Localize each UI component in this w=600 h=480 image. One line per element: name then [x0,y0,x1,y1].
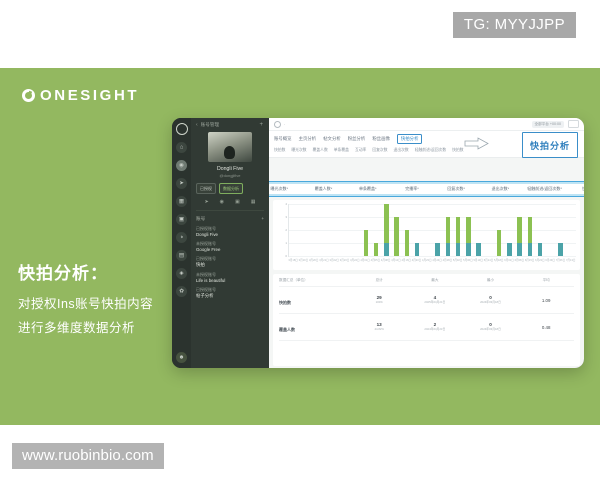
chart-bar-slot[interactable] [422,204,432,256]
list-item-name: Dongli Five [196,232,264,237]
list-item-name: Life is beautiful [196,278,264,283]
chart-bar[interactable] [517,217,522,256]
list-item-name: Google Free [196,247,264,252]
table-cell: 42025年04月24日 [407,295,463,304]
chart-bar[interactable] [558,243,563,256]
gridline [289,256,576,257]
dashboard-icon[interactable]: ◉ [176,160,187,171]
x-tick-label: 4月08日 [381,258,391,262]
x-tick-label: 3月24日 [350,258,360,262]
x-tick-label: 7月13日 [566,258,576,262]
y-tick-label: 4 [285,202,287,206]
chart-bar-slot[interactable] [484,204,494,256]
x-tick-label: 6月22日 [535,258,545,262]
x-tick-label: 6月08日 [514,258,524,262]
bar-segment-bottom [435,243,440,256]
x-tick-label: 3月20日 [309,258,319,262]
telegram-watermark: TG: MYYJJPP [453,12,576,38]
x-tick-label: 4月01日 [360,258,370,262]
metric-pills-highlight: 快拍数*曝光次数*覆盖人数*单条覆盖*完播率*回复次数*退出次数*轻触前进/返回… [269,181,584,197]
metric-pill[interactable]: 快拍数* [567,186,584,192]
x-tick-label: 3月18日 [288,258,298,262]
list-item-name: 快拍 [196,262,264,268]
subtab-item[interactable]: 覆盖人数 [313,148,328,153]
home-icon[interactable]: ⌂ [176,142,187,153]
list-item-name: 帖子分析 [196,293,264,299]
cell-subvalue: 2024年04月23日 [407,328,463,331]
bar-segment-top [456,217,461,243]
brand-name: ONESIGHT [40,87,139,104]
chart-bar[interactable] [476,243,481,256]
tab-active[interactable]: 快拍分析 [397,134,423,144]
y-axis-labels: 01234 [278,204,288,256]
list-item[interactable]: 已授权账号帖子分析 [196,287,264,299]
bar-segment-bottom [558,243,563,256]
y-tick-label: 3 [285,215,287,219]
x-tick-label: 3月23日 [339,258,349,262]
layers-icon[interactable]: ▦ [176,196,187,207]
chart-bars [289,204,576,256]
x-tick-label: 6月29日 [545,258,555,262]
y-tick-label: 2 [285,228,287,232]
bar-segment-bottom [466,243,471,256]
sidebar-section-header[interactable]: 账号 + [196,216,264,222]
dashboard-main: · 全部平台 +00:00 账号概览主页分析帖文分析粉丝分析粉丝画像快拍分析 快… [269,118,584,368]
metric-pill[interactable]: 回复次数* [434,186,478,192]
chart-bar-slot[interactable] [392,204,402,256]
monitor-icon-glyph: ▤ [179,253,184,259]
chart-bar[interactable] [446,217,451,256]
preview-box-icon[interactable] [568,120,579,128]
sidebar-back-label: 账号管理 [201,122,219,128]
table-row-label: 覆盖人数 [279,318,351,336]
dashboard-topbar: · 全部平台 +00:00 [269,118,584,131]
briefcase-icon[interactable]: ▣ [176,214,187,225]
chart-bar-slot[interactable] [535,204,545,256]
chart-icon-glyph: ◑ [180,235,183,241]
bar-segment-bottom [456,243,461,256]
monitor-icon[interactable]: ▤ [176,250,187,261]
circle-dot-icon[interactable] [274,121,281,128]
tab-item[interactable]: 账号概览 [274,136,292,142]
cell-subvalue: 100% [351,301,407,304]
table-cell: 22024年04月23日 [407,322,463,331]
chart-bar-slot[interactable] [412,204,422,256]
bar-segment-bottom [507,243,512,256]
avatar-icon-glyph: ☻ [179,355,185,361]
chart-bar-slot[interactable] [320,204,330,256]
slide-subtitle-line2: 进行多维度数据分析 [18,317,198,340]
cell-value: 1.09 [518,298,574,303]
bar-segment-top [374,243,379,256]
account-name: Dongli Five [196,166,264,172]
grid-icon[interactable]: ▦ [251,199,256,205]
chart-plot-area: 01234 [288,204,576,257]
table-row-label: 快拍数 [279,291,351,309]
chart-bar-slot[interactable] [361,204,371,256]
x-axis-labels: 3月18日3月19日3月20日3月21日3月22日3月23日3月24日4月01日… [288,258,576,262]
chart-bar[interactable] [497,230,502,256]
x-tick-label: 5月06日 [463,258,473,262]
chart-bar[interactable] [456,217,461,256]
callout-badge: 快拍分析 [522,132,578,158]
chart-bar-slot[interactable] [463,204,473,256]
briefcase-icon-glyph: ▣ [179,217,184,223]
bar-segment-top [497,230,502,256]
chart-bar[interactable] [435,243,440,256]
account-list: 已授权账号Dongli Five未授权账号Google Free已授权账号快拍未… [196,226,264,299]
tab-item[interactable]: 粉丝画像 [372,136,390,142]
x-tick-label: 4月28日 [442,258,452,262]
list-item[interactable]: 已授权账号快拍 [196,256,264,268]
metric-pill[interactable]: 曝光次数* [269,186,301,192]
onesight-circle-logo-icon [22,89,35,102]
chart-bar-slot[interactable] [545,204,555,256]
cell-subvalue: 2025年04月24日 [407,301,463,304]
paper-plane-icon-glyph: ➤ [179,181,184,187]
icon-rail[interactable]: ⌂◉➤▦▣◑▤◈✿☻ [172,118,191,368]
chart-bar-slot[interactable] [433,204,443,256]
table-cell: 29100% [351,295,407,304]
dashboard-icon-glyph: ◉ [179,163,184,169]
subtab-item[interactable]: 回复次数 [372,148,387,153]
chart-icon[interactable]: ◑ [176,232,187,243]
table-header-cell: 总计 [351,278,407,283]
chart-bar-slot[interactable] [494,204,504,256]
share-icon[interactable]: ➤ [204,199,208,205]
table-cell: 1.09 [518,298,574,303]
chart-bar[interactable] [466,217,471,256]
bar-segment-bottom [384,243,389,256]
table-cell: 1344.82% [351,322,407,331]
chart-bar-slot[interactable] [371,204,381,256]
chart-bar-slot[interactable] [556,204,566,256]
subtab-item[interactable]: 快拍数 [274,148,285,153]
chart-bar-slot[interactable] [443,204,453,256]
tab-item[interactable]: 主页分析 [299,136,317,142]
table-header-cell: 最小 [463,278,519,283]
chart-bar-slot[interactable] [402,204,412,256]
chart-bar-slot[interactable] [566,204,576,256]
x-tick-label: 5月10日 [473,258,483,262]
chart-bar-slot[interactable] [340,204,350,256]
page-title: 快拍分析： [18,264,198,284]
megaphone-icon[interactable]: ◈ [176,268,187,279]
chart-bar-slot[interactable] [351,204,361,256]
layers-icon-glyph: ▦ [179,199,184,205]
chart-bar[interactable] [384,204,389,256]
y-tick-label: 0 [285,254,287,258]
chart-bar-slot[interactable] [453,204,463,256]
cell-value: 0.48 [518,325,574,330]
chevron-left-icon: ‹ [196,122,198,128]
x-tick-label: 5月14日 [483,258,493,262]
list-item[interactable]: 未授权账号Google Free [196,241,264,252]
slide-canvas: TG: MYYJJPP ONESIGHT 快拍分析： 对授权Ins账号快拍内容 … [0,0,600,480]
x-tick-label: 4月24日 [432,258,442,262]
row-label-text: 覆盖人数 [279,327,295,332]
y-tick-label: 1 [285,241,287,245]
account-cover-photo [208,132,252,162]
chart-bar-slot[interactable] [474,204,484,256]
breadcrumb: · [284,122,285,127]
gear-icon[interactable]: ✿ [176,286,187,297]
chart-bar[interactable] [528,217,533,256]
table-row: 覆盖人数1344.82%22024年04月23日02024年03月18日0.48 [279,314,574,341]
metric-pill[interactable]: 轻触前进/返回次数* [523,186,567,192]
sidebar-add-icon[interactable]: + [259,122,263,128]
x-tick-label: 4月23日 [422,258,432,262]
x-tick-label: 3月19日 [298,258,308,262]
chart-bar-slot[interactable] [381,204,391,256]
bar-segment-top [384,204,389,243]
table-header-row: 数据汇总（单位）总计最大最小平均 [279,278,574,287]
x-tick-label: 6月15日 [524,258,534,262]
table-body: 快拍数29100%42025年04月24日02024年03月18日1.09覆盖人… [279,287,574,341]
bar-segment-bottom [476,243,481,256]
subtab-item[interactable]: 退出次数 [394,148,409,153]
subtab-item[interactable]: 轻触前进/返回次数 [415,148,446,153]
table-header-cell: 平均 [518,278,574,283]
account-action-buttons: 已授权 数据分析 [196,183,264,194]
x-tick-label: 6月01日 [504,258,514,262]
bar-segment-top [528,217,533,243]
table-row: 快拍数29100%42025年04月24日02024年03月18日1.09 [279,287,574,314]
bar-segment-top [394,217,399,256]
right-arrow-icon [464,137,490,150]
chart-bar-slot[interactable] [515,204,525,256]
chart-bar[interactable] [394,217,399,256]
cell-subvalue: 2024年03月18日 [463,328,519,331]
table-cell: 0.48 [518,325,574,330]
tab-item[interactable]: 粉丝分析 [348,136,366,142]
chart-bar-slot[interactable] [504,204,514,256]
chart-bar[interactable] [364,230,369,256]
metric-pill[interactable]: 退出次数* [478,186,522,192]
globe-icon[interactable]: ◉ [220,199,224,205]
chart-bar-slot[interactable] [310,204,320,256]
row-label-text: 快拍数 [279,300,291,305]
tab-item[interactable]: 帖文分析 [323,136,341,142]
image-icon[interactable]: ▣ [235,199,240,205]
list-item[interactable]: 未授权账号Life is beautiful [196,272,264,283]
home-icon-glyph: ⌂ [180,145,183,151]
snapshot-bar-chart: 01234 3月18日3月19日3月20日3月21日3月22日3月23日3月24… [273,200,580,270]
x-tick-label: 5月02日 [453,258,463,262]
table-header-cell: 数据汇总（单位） [279,278,351,283]
quick-icon-row: ➤ ◉ ▣ ▦ [196,199,264,205]
plus-icon[interactable]: + [261,216,264,221]
metric-pill[interactable]: 单条覆盖* [346,186,390,192]
table-header-cell: 最大 [407,278,463,283]
chart-bar[interactable] [415,243,420,256]
chart-bar[interactable] [405,230,410,256]
x-tick-label: 4月05日 [370,258,380,262]
chart-bar-slot[interactable] [299,204,309,256]
analyze-button[interactable]: 数据分析 [219,183,243,194]
megaphone-icon-glyph: ◈ [179,271,183,277]
gear-icon-glyph: ✿ [179,289,184,295]
slide-subtitle-line1: 对授权Ins账号快拍内容 [18,293,198,316]
authorized-badge[interactable]: 已授权 [196,183,216,194]
account-sidebar: ‹ 账号管理 + Dongli Five @dongjifive 已授权 数据分… [191,118,269,368]
chart-bar[interactable] [538,243,543,256]
chart-bar[interactable] [507,243,512,256]
onesight-logo-icon[interactable] [176,123,188,135]
sidebar-divider [196,210,264,211]
cell-subvalue: 44.82% [351,328,407,331]
chart-bar-slot[interactable] [330,204,340,256]
metric-pill[interactable]: 完播率* [390,186,434,192]
x-tick-label: 7月06日 [555,258,565,262]
bar-segment-top [517,217,522,243]
table-cell: 02024年03月18日 [463,322,519,331]
paper-plane-icon[interactable]: ➤ [176,178,187,189]
x-tick-label: 4月20日 [411,258,421,262]
table-cell: 02024年03月18日 [463,295,519,304]
bar-segment-bottom [517,243,522,256]
x-tick-label: 3月22日 [329,258,339,262]
bar-segment-bottom [415,243,420,256]
bar-segment-top [364,230,369,256]
slide-copy: 快拍分析： 对授权Ins账号快拍内容 进行多维度数据分析 [18,264,198,340]
chart-bar-slot[interactable] [525,204,535,256]
bar-segment-bottom [538,243,543,256]
metric-pills: 快拍数*曝光次数*覆盖人数*单条覆盖*完播率*回复次数*退出次数*轻触前进/返回… [269,184,584,194]
website-watermark: www.ruobinbio.com [12,443,164,469]
bar-segment-top [466,217,471,243]
bar-segment-top [405,230,410,256]
subtab-item[interactable]: 单条覆盖 [334,148,349,153]
bar-segment-top [446,217,451,243]
brand-logo: ONESIGHT [22,87,139,104]
x-tick-label: 4月16日 [401,258,411,262]
bar-segment-bottom [446,243,451,256]
subtab-item[interactable]: 曝光次数 [291,148,306,153]
avatar-icon[interactable]: ☻ [176,352,187,363]
x-tick-label: 5月18日 [494,258,504,262]
chart-bar-slot[interactable] [289,204,299,256]
x-tick-label: 3月21日 [319,258,329,262]
x-tick-label: 4月12日 [391,258,401,262]
sidebar-back[interactable]: ‹ 账号管理 [196,122,264,128]
subtab-item[interactable]: 快拍数 [452,148,463,153]
account-handle: @dongjifive [196,173,264,178]
chart-bar[interactable] [374,243,379,256]
summary-table: 数据汇总（单位）总计最大最小平均 快拍数29100%42025年04月24日02… [273,274,580,366]
dashboard-window: ⌂◉➤▦▣◑▤◈✿☻ ‹ 账号管理 + Dongli Five @dongjif… [172,118,584,368]
callout-label: 快拍分析 [530,141,570,151]
subtab-item[interactable]: 互动率 [355,148,366,153]
bar-segment-bottom [528,243,533,256]
list-item[interactable]: 已授权账号Dongli Five [196,226,264,237]
cell-subvalue: 2024年03月18日 [463,301,519,304]
timezone-pill[interactable]: 全部平台 +00:00 [532,121,564,128]
sidebar-section-label: 账号 [196,216,205,222]
metric-pill[interactable]: 覆盖人数* [301,186,345,192]
